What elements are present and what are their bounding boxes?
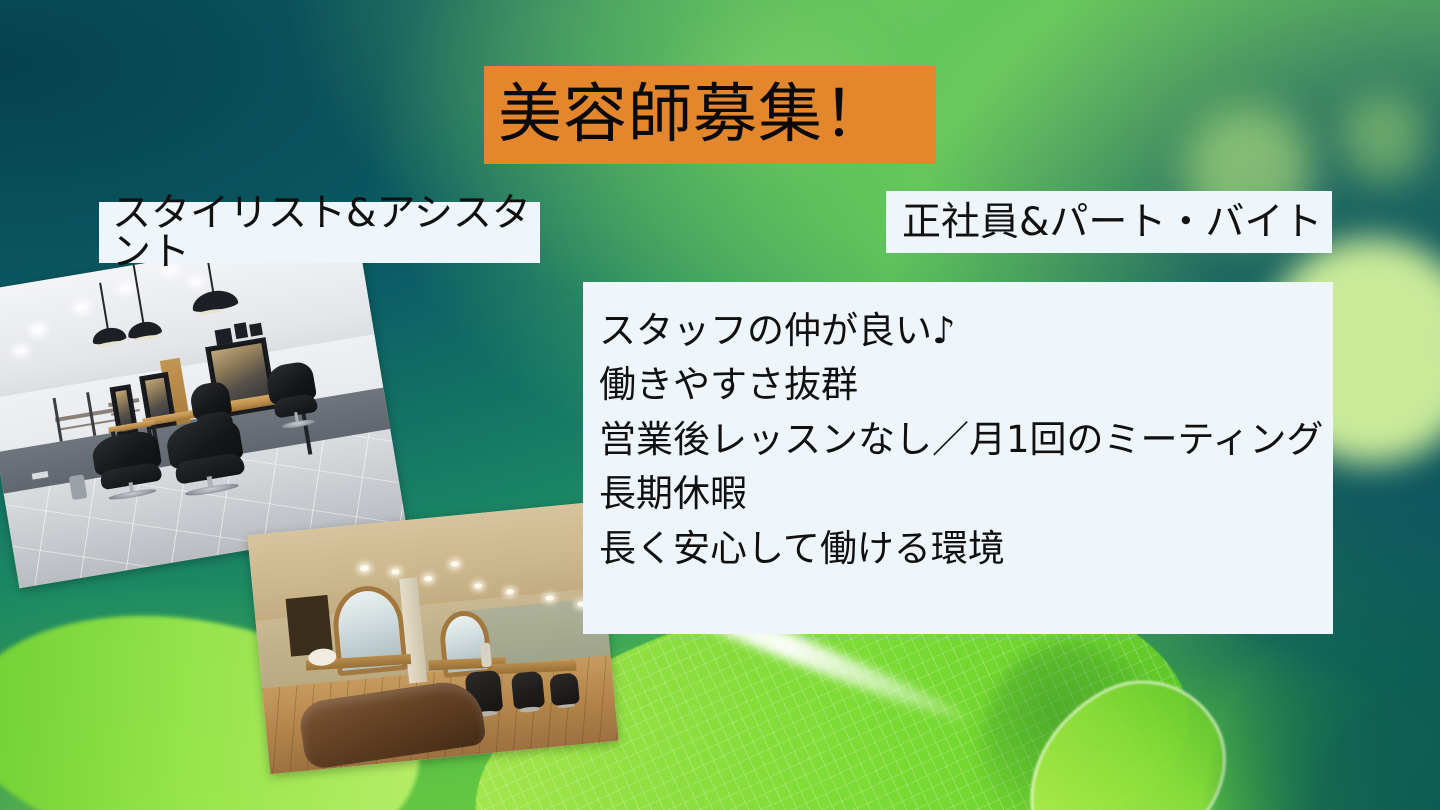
benefit-line: 長く安心して働ける環境 bbox=[599, 522, 1333, 576]
salon-photo-wood bbox=[247, 502, 618, 774]
role-label-box: スタイリスト&アシスタント bbox=[99, 202, 540, 263]
slide-canvas: 美容師募集！ スタイリスト&アシスタント 正社員&パート・バイト スタッフの仲が… bbox=[0, 0, 1440, 810]
role-label: スタイリスト&アシスタント bbox=[99, 194, 540, 272]
employment-type-box: 正社員&パート・バイト bbox=[886, 191, 1332, 253]
benefit-line: 営業後レッスンなし／月1回のミーティング bbox=[599, 413, 1333, 467]
employment-type-label: 正社員&パート・バイト bbox=[886, 203, 1322, 242]
bokeh-circle-small-right bbox=[1340, 96, 1426, 182]
benefit-line: スタッフの仲が良い♪ bbox=[599, 304, 1333, 358]
benefit-line: 長期休暇 bbox=[599, 467, 1333, 521]
benefits-box: スタッフの仲が良い♪ 働きやすさ抜群 営業後レッスンなし／月1回のミーティング … bbox=[583, 282, 1333, 634]
benefit-line: 働きやすさ抜群 bbox=[599, 358, 1333, 412]
page-title-banner: 美容師募集！ bbox=[484, 66, 936, 164]
page-title: 美容師募集！ bbox=[484, 83, 888, 147]
